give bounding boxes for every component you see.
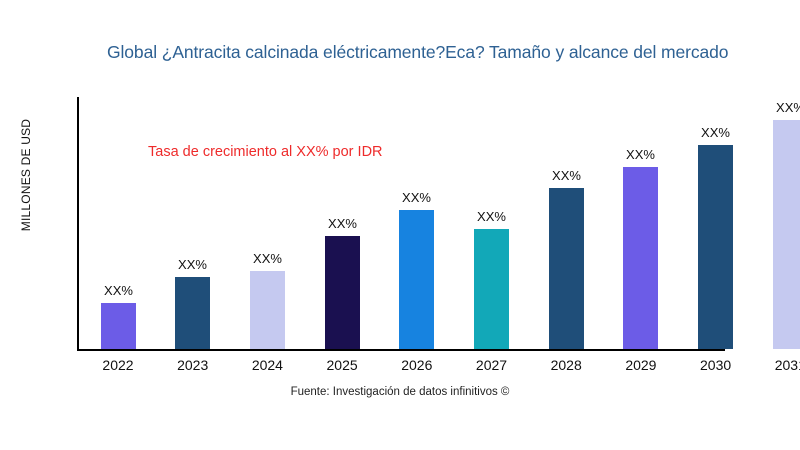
bar-group: XX% (101, 303, 136, 349)
bar[interactable] (549, 188, 584, 349)
bar-value-label: XX% (701, 125, 730, 140)
bar[interactable] (474, 229, 509, 349)
x-tick-label-2025: 2025 (312, 357, 372, 373)
plot-area: Tasa de crecimiento al XX% por IDR XX%XX… (0, 0, 800, 450)
bar-group: XX% (623, 167, 658, 349)
bar-value-label: XX% (253, 251, 282, 266)
source-note: Fuente: Investigación de datos infinitiv… (0, 386, 800, 398)
bar-group: XX% (773, 120, 800, 349)
x-tick-label-2023: 2023 (163, 357, 223, 373)
x-tick-label-2026: 2026 (387, 357, 447, 373)
bar-group: XX% (250, 271, 285, 349)
y-axis-line (77, 97, 79, 350)
bar-value-label: XX% (552, 168, 581, 183)
bar[interactable] (325, 236, 360, 349)
bar[interactable] (399, 210, 434, 349)
bar-value-label: XX% (776, 100, 800, 115)
bar-group: XX% (698, 145, 733, 349)
bar-group: XX% (549, 188, 584, 349)
bar[interactable] (250, 271, 285, 349)
bar-group: XX% (325, 236, 360, 349)
bar-value-label: XX% (402, 190, 431, 205)
x-tick-label-2029: 2029 (611, 357, 671, 373)
bar-value-label: XX% (178, 257, 207, 272)
bar[interactable] (773, 120, 800, 349)
bar-group: XX% (474, 229, 509, 349)
bar-group: XX% (175, 277, 210, 349)
chart-screenshot: Global ¿Antracita calcinada eléctricamen… (0, 0, 800, 450)
bar[interactable] (101, 303, 136, 349)
x-axis-line (77, 349, 725, 351)
bar[interactable] (623, 167, 658, 349)
x-tick-label-2022: 2022 (88, 357, 148, 373)
bar[interactable] (698, 145, 733, 349)
x-tick-label-2024: 2024 (237, 357, 297, 373)
growth-rate-annotation: Tasa de crecimiento al XX% por IDR (148, 144, 383, 160)
x-tick-label-2028: 2028 (536, 357, 596, 373)
bar-value-label: XX% (104, 283, 133, 298)
x-tick-label-2030: 2030 (686, 357, 746, 373)
bar[interactable] (175, 277, 210, 349)
bar-value-label: XX% (477, 209, 506, 224)
bar-value-label: XX% (626, 147, 655, 162)
bar-group: XX% (399, 210, 434, 349)
x-tick-label-2031: 2031 (760, 357, 800, 373)
x-tick-label-2027: 2027 (462, 357, 522, 373)
bar-value-label: XX% (328, 216, 357, 231)
